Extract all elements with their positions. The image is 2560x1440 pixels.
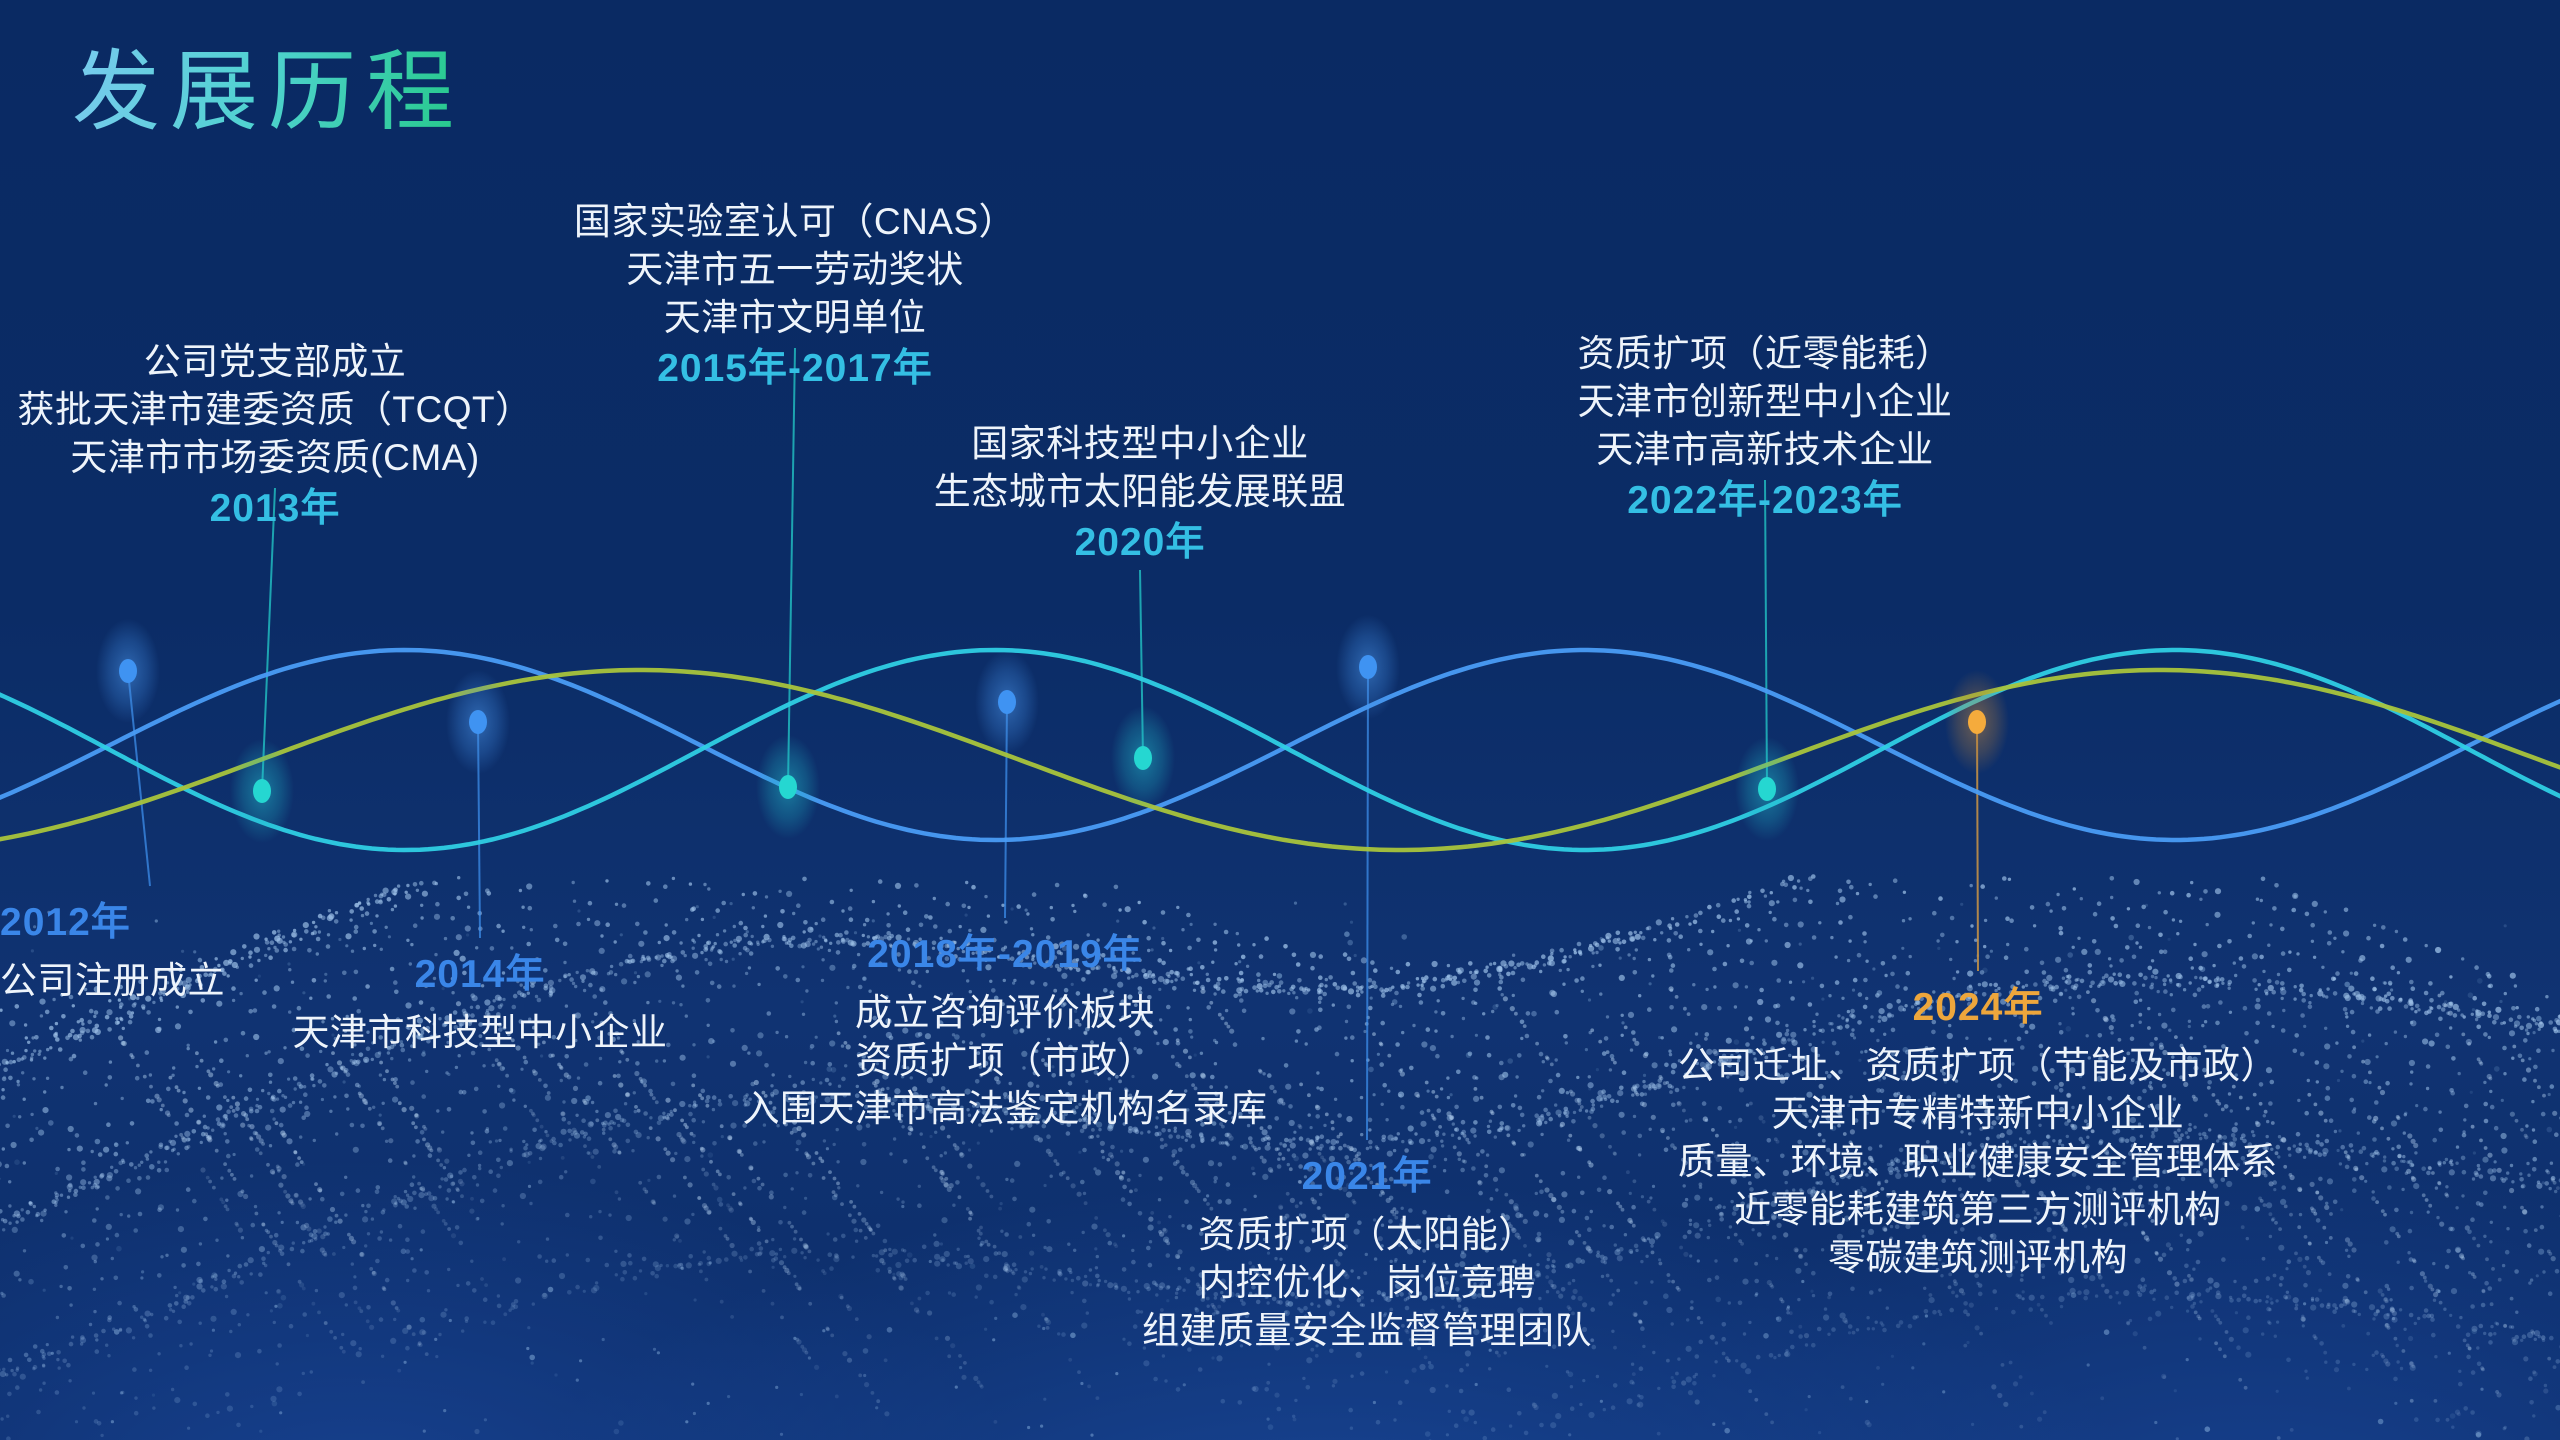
- event-detail-line: 生态城市太阳能发展联盟: [934, 468, 1347, 516]
- marker-dot: [1134, 746, 1152, 770]
- event-year-label: 2018年-2019年: [743, 930, 1268, 981]
- event-detail-line: 近零能耗建筑第三方测评机构: [1678, 1186, 2278, 1234]
- event-detail-line: 天津市市场委资质(CMA): [17, 434, 532, 482]
- timeline-event-2014[interactable]: 2014年天津市科技型中小企业: [293, 950, 668, 1057]
- event-year-label: 2020年: [934, 518, 1347, 569]
- event-detail-line: 天津市五一劳动奖状: [574, 246, 1016, 294]
- timeline-marker[interactable]: [1945, 670, 2009, 774]
- event-detail-line: 天津市创新型中小企业: [1578, 378, 1953, 426]
- timeline-event-2021[interactable]: 2021年资质扩项（太阳能）内控优化、岗位竞聘组建质量安全监督管理团队: [1142, 1152, 1592, 1355]
- event-year-label: 2014年: [293, 950, 668, 1001]
- event-detail-line: 质量、环境、职业健康安全管理体系: [1678, 1138, 2278, 1186]
- timeline-event-2013[interactable]: 公司党支部成立获批天津市建委资质（TCQT）天津市市场委资质(CMA)2013年: [17, 338, 532, 535]
- event-detail-line: 国家科技型中小企业: [934, 420, 1347, 468]
- timeline-marker[interactable]: [1111, 706, 1175, 810]
- event-year-label: 2022年-2023年: [1578, 476, 1953, 527]
- connector-stem: [1367, 667, 1368, 1140]
- timeline-marker[interactable]: [96, 619, 160, 723]
- event-year-label: 2024年: [1678, 983, 2278, 1034]
- event-detail-line: 公司注册成立: [0, 957, 225, 1005]
- timeline-event-2022-2023[interactable]: 资质扩项（近零能耗）天津市创新型中小企业天津市高新技术企业2022年-2023年: [1578, 330, 1953, 527]
- event-detail-line: 组建质量安全监督管理团队: [1142, 1307, 1592, 1355]
- event-detail-line: 入围天津市高法鉴定机构名录库: [743, 1085, 1268, 1133]
- timeline-event-2015-2017[interactable]: 国家实验室认可（CNAS）天津市五一劳动奖状天津市文明单位2015年-2017年: [574, 198, 1016, 395]
- timeline-event-2020[interactable]: 国家科技型中小企业生态城市太阳能发展联盟2020年: [934, 420, 1347, 569]
- event-detail-line: 获批天津市建委资质（TCQT）: [17, 386, 532, 434]
- timeline-event-2018-2019[interactable]: 2018年-2019年成立咨询评价板块资质扩项（市政）入围天津市高法鉴定机构名录…: [743, 930, 1268, 1133]
- event-detail-line: 国家实验室认可（CNAS）: [574, 198, 1016, 246]
- page-title: 发展历程: [72, 46, 464, 138]
- timeline-marker[interactable]: [975, 650, 1039, 754]
- event-detail-line: 资质扩项（太阳能）: [1142, 1211, 1592, 1259]
- event-detail-line: 天津市专精特新中小企业: [1678, 1090, 2278, 1138]
- marker-dot: [779, 775, 797, 799]
- event-year-label: 2012年: [0, 898, 225, 949]
- event-detail-line: 内控优化、岗位竞聘: [1142, 1259, 1592, 1307]
- event-detail-line: 天津市科技型中小企业: [293, 1009, 668, 1057]
- event-year-label: 2013年: [17, 484, 532, 535]
- event-detail-line: 公司党支部成立: [17, 338, 532, 386]
- timeline-event-2024[interactable]: 2024年公司迁址、资质扩项（节能及市政）天津市专精特新中小企业质量、环境、职业…: [1678, 983, 2278, 1282]
- timeline-marker[interactable]: [230, 739, 294, 843]
- marker-dot: [1968, 710, 1986, 734]
- event-detail-line: 资质扩项（近零能耗）: [1578, 330, 1953, 378]
- event-detail-line: 公司迁址、资质扩项（节能及市政）: [1678, 1042, 2278, 1090]
- connector-stem: [788, 348, 795, 787]
- marker-dot: [253, 779, 271, 803]
- event-detail-line: 天津市文明单位: [574, 294, 1016, 342]
- event-detail-line: 零碳建筑测评机构: [1678, 1234, 2278, 1282]
- event-year-label: 2015年-2017年: [574, 344, 1016, 395]
- wave-line-wave-green: [0, 670, 2560, 850]
- marker-dot: [1758, 777, 1776, 801]
- event-detail-line: 资质扩项（市政）: [743, 1037, 1268, 1085]
- marker-dot: [469, 710, 487, 734]
- timeline-event-2012[interactable]: 2012年公司注册成立: [0, 898, 225, 1005]
- timeline-marker[interactable]: [1336, 615, 1400, 719]
- timeline-marker[interactable]: [756, 735, 820, 839]
- event-year-label: 2021年: [1142, 1152, 1592, 1203]
- timeline-marker[interactable]: [446, 670, 510, 774]
- event-detail-line: 成立咨询评价板块: [743, 989, 1268, 1037]
- marker-dot: [119, 659, 137, 683]
- timeline-marker[interactable]: [1735, 737, 1799, 841]
- marker-dot: [1359, 655, 1377, 679]
- event-detail-line: 天津市高新技术企业: [1578, 426, 1953, 474]
- timeline-infographic: 发展历程 2012年公司注册成立公司党支部成立获批天津市建委资质（TCQT）天津…: [0, 0, 2560, 1440]
- marker-dot: [998, 690, 1016, 714]
